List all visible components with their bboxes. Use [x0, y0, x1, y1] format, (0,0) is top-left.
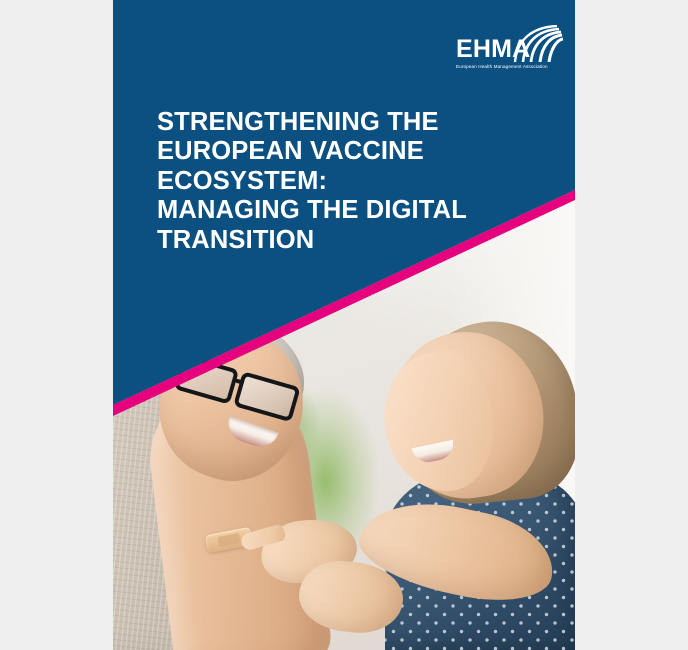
logo-tagline: European Health Management Association: [456, 64, 548, 69]
title-line-5: TRANSITION: [157, 226, 527, 255]
ehma-logo: EHMA European Health Management Associat…: [456, 24, 563, 74]
title-line-3: ECOSYSTEM:: [157, 167, 527, 196]
title-line-4: MANAGING THE DIGITAL: [157, 196, 527, 225]
cover-title: STRENGTHENING THE EUROPEAN VACCINE ECOSY…: [157, 108, 527, 255]
document-page: EHMA European Health Management Associat…: [113, 0, 575, 650]
screenshot-canvas: EHMA European Health Management Associat…: [0, 0, 688, 650]
title-line-2: EUROPEAN VACCINE: [157, 137, 527, 166]
title-line-1: STRENGTHENING THE: [157, 108, 527, 137]
arcs-dome-icon: [513, 25, 563, 62]
